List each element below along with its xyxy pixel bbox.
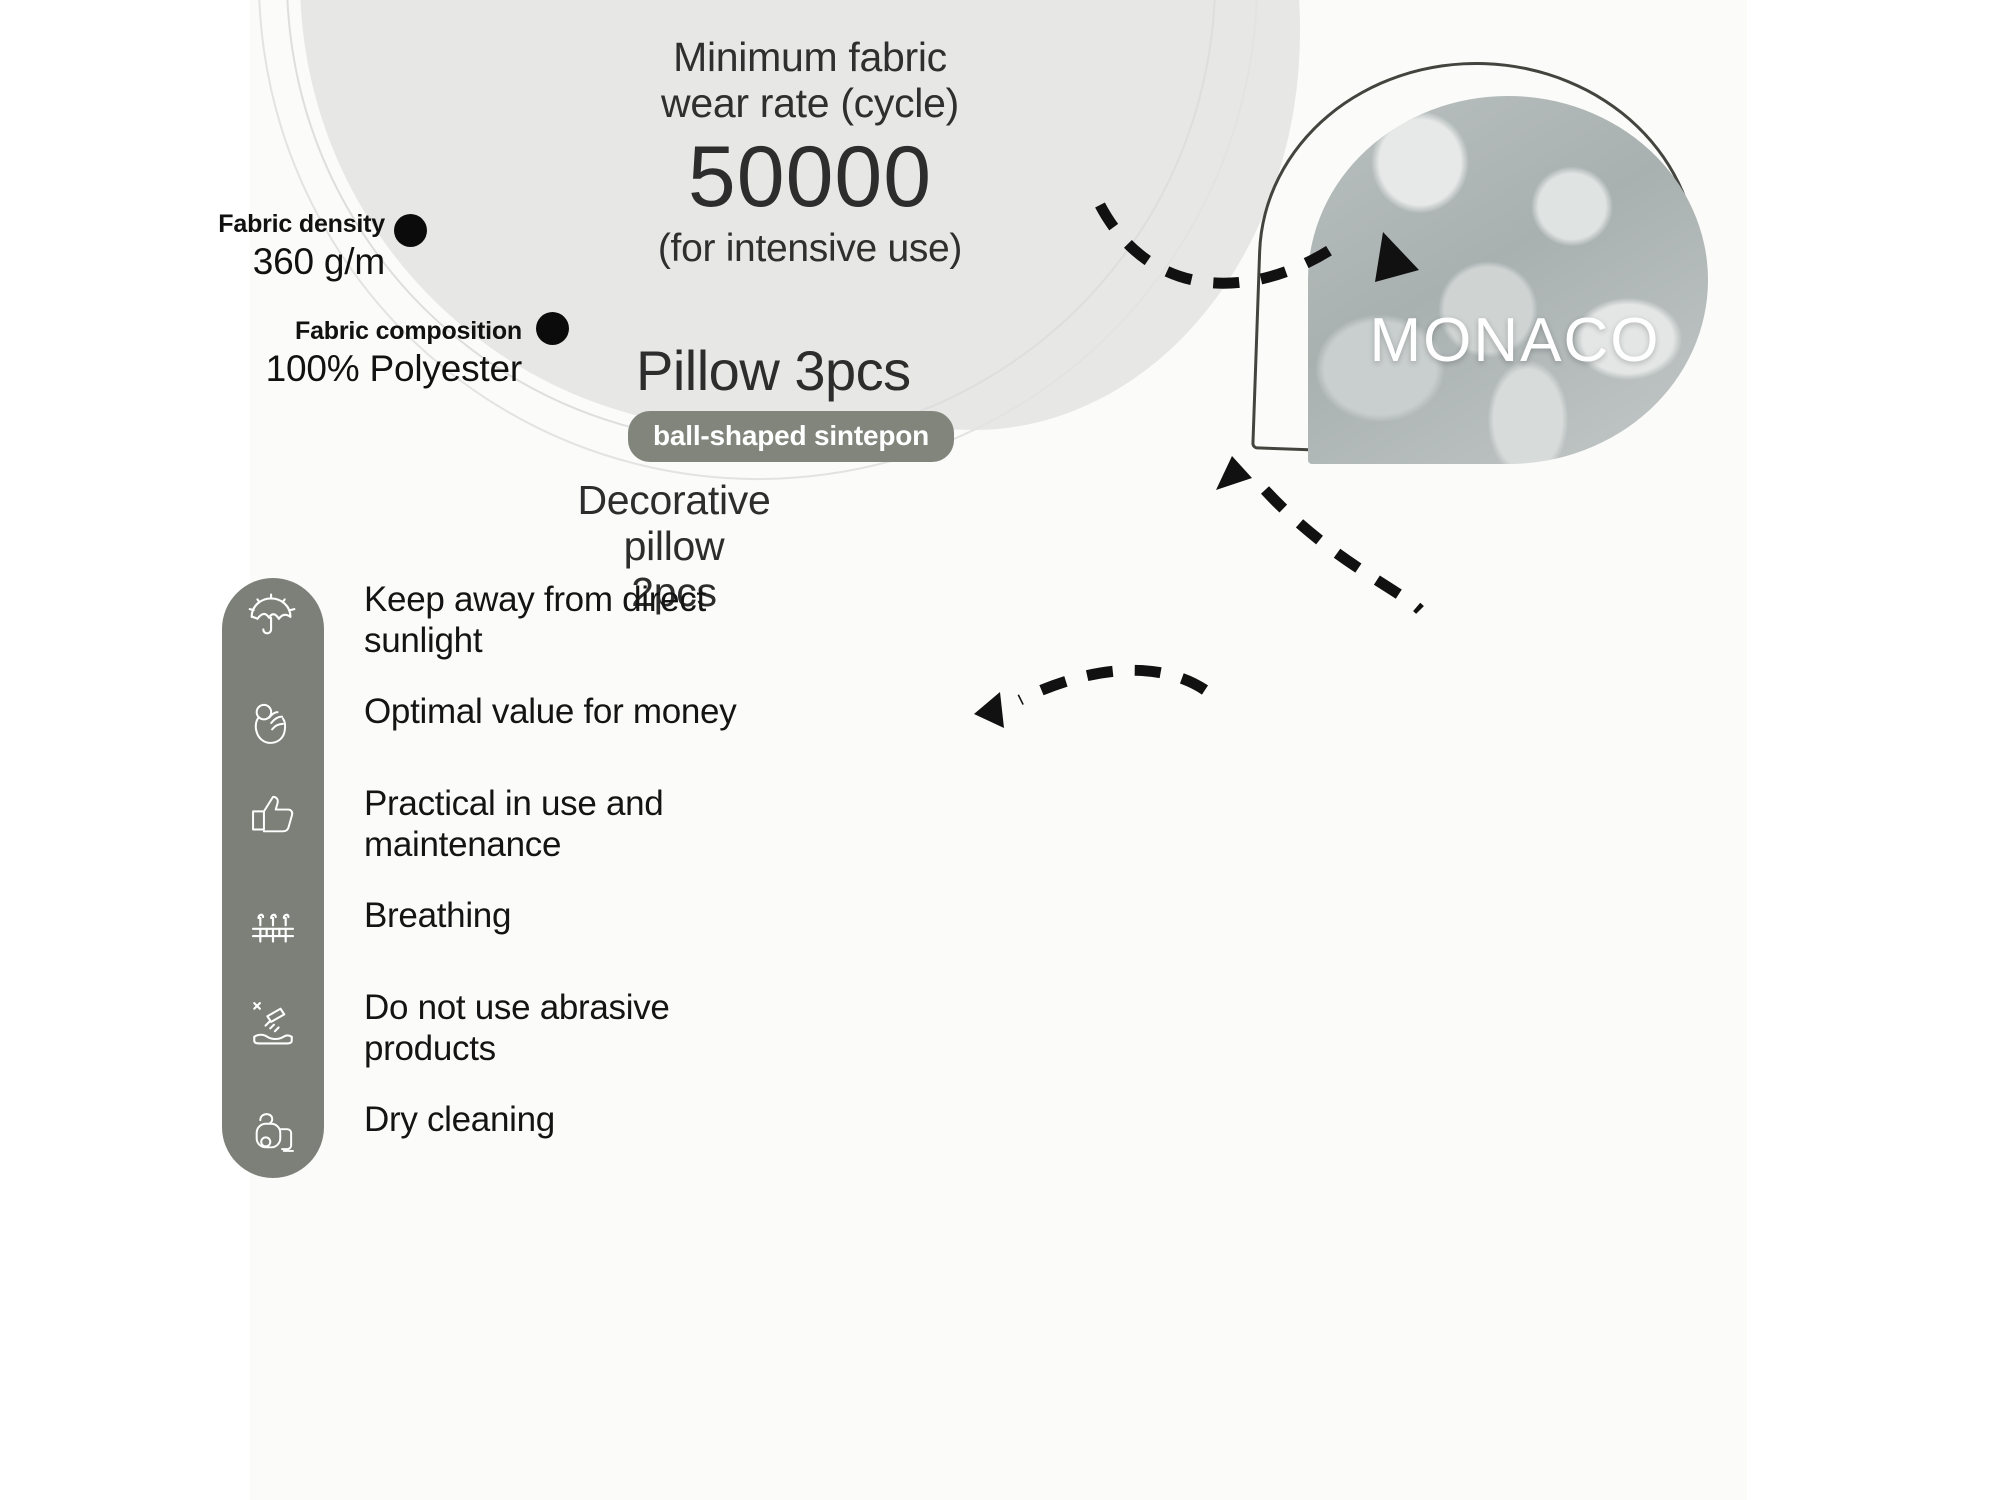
infographic-canvas: MONACO Minimum fabric wear rate (cycle) … bbox=[0, 0, 2000, 1500]
wear-rate-line2: wear rate (cycle) bbox=[560, 81, 1060, 127]
list-item: Keep away from direct sunlight bbox=[222, 578, 842, 690]
list-item-label: Optimal value for money bbox=[364, 690, 736, 733]
care-instructions-list: Keep away from direct sunlight Optimal v… bbox=[222, 578, 842, 1190]
list-item: Dry cleaning bbox=[222, 1098, 842, 1190]
decorative-pillow-line1: Decorative pillow bbox=[524, 478, 824, 570]
wear-rate-value: 50000 bbox=[560, 129, 1060, 225]
right-margin bbox=[1750, 0, 2000, 1500]
annotation-label: Fabric density bbox=[140, 210, 385, 240]
list-item-label: Breathing bbox=[364, 894, 511, 937]
wear-rate-line1: Minimum fabric bbox=[560, 35, 1060, 81]
annotation-value: 360 g/m bbox=[140, 240, 385, 284]
ok-hand-icon bbox=[222, 690, 324, 752]
wear-rate-note: (for intensive use) bbox=[560, 227, 1060, 272]
fabric-swatch bbox=[1308, 96, 1708, 464]
list-item: Do not use abrasive products bbox=[222, 986, 842, 1098]
annotation-fabric-density: Fabric density 360 g/m bbox=[140, 210, 385, 283]
no-abrasive-brush-icon bbox=[222, 986, 324, 1050]
list-item-label: Practical in use and maintenance bbox=[364, 782, 764, 866]
pillow-title: Pillow 3pcs bbox=[636, 338, 911, 403]
annotation-value: 100% Polyester bbox=[230, 347, 522, 391]
list-item-label: Dry cleaning bbox=[364, 1098, 555, 1141]
list-item: Optimal value for money bbox=[222, 690, 842, 782]
fabric-name-label: MONACO bbox=[1315, 305, 1715, 376]
annotation-dot-composition bbox=[536, 312, 569, 345]
sun-umbrella-icon bbox=[222, 578, 324, 644]
annotation-label: Fabric composition bbox=[230, 317, 522, 347]
annotation-fabric-composition: Fabric composition 100% Polyester bbox=[230, 317, 522, 390]
pillow-filling-badge: ball-shaped sintepon bbox=[628, 411, 954, 462]
list-item-label: Do not use abrasive products bbox=[364, 986, 764, 1070]
list-item: Breathing bbox=[222, 894, 842, 986]
thumbs-up-icon bbox=[222, 782, 324, 844]
breathable-icon bbox=[222, 894, 324, 956]
wear-rate-block: Minimum fabric wear rate (cycle) 50000 (… bbox=[560, 35, 1060, 272]
vacuum-cleaner-icon bbox=[222, 1098, 324, 1160]
list-item: Practical in use and maintenance bbox=[222, 782, 842, 894]
annotation-dot-density bbox=[394, 214, 427, 247]
list-item-label: Keep away from direct sunlight bbox=[364, 578, 764, 662]
